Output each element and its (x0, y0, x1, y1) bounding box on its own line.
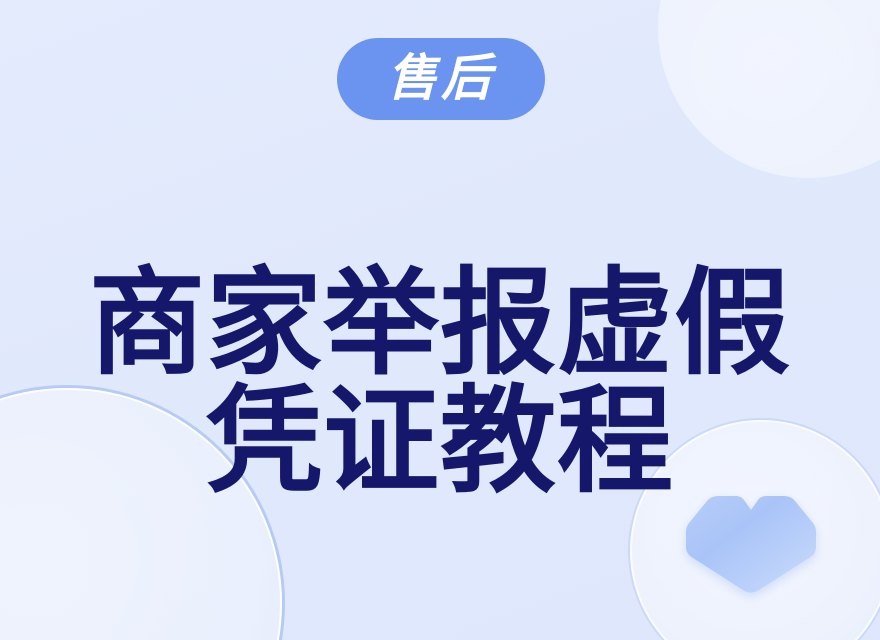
heart-icon (681, 489, 821, 597)
page-title-line-1: 商家举报虚假 (0, 264, 880, 382)
category-badge-label: 售后 (387, 53, 495, 103)
category-badge: 售后 (337, 38, 545, 120)
top-right-circle-decoration (658, 0, 880, 178)
page-title-line-2: 凭证教程 (0, 382, 880, 500)
page-title: 商家举报虚假 凭证教程 (0, 264, 880, 500)
poster-canvas: 售后 商家举报虚假 凭证教程 (0, 0, 880, 640)
